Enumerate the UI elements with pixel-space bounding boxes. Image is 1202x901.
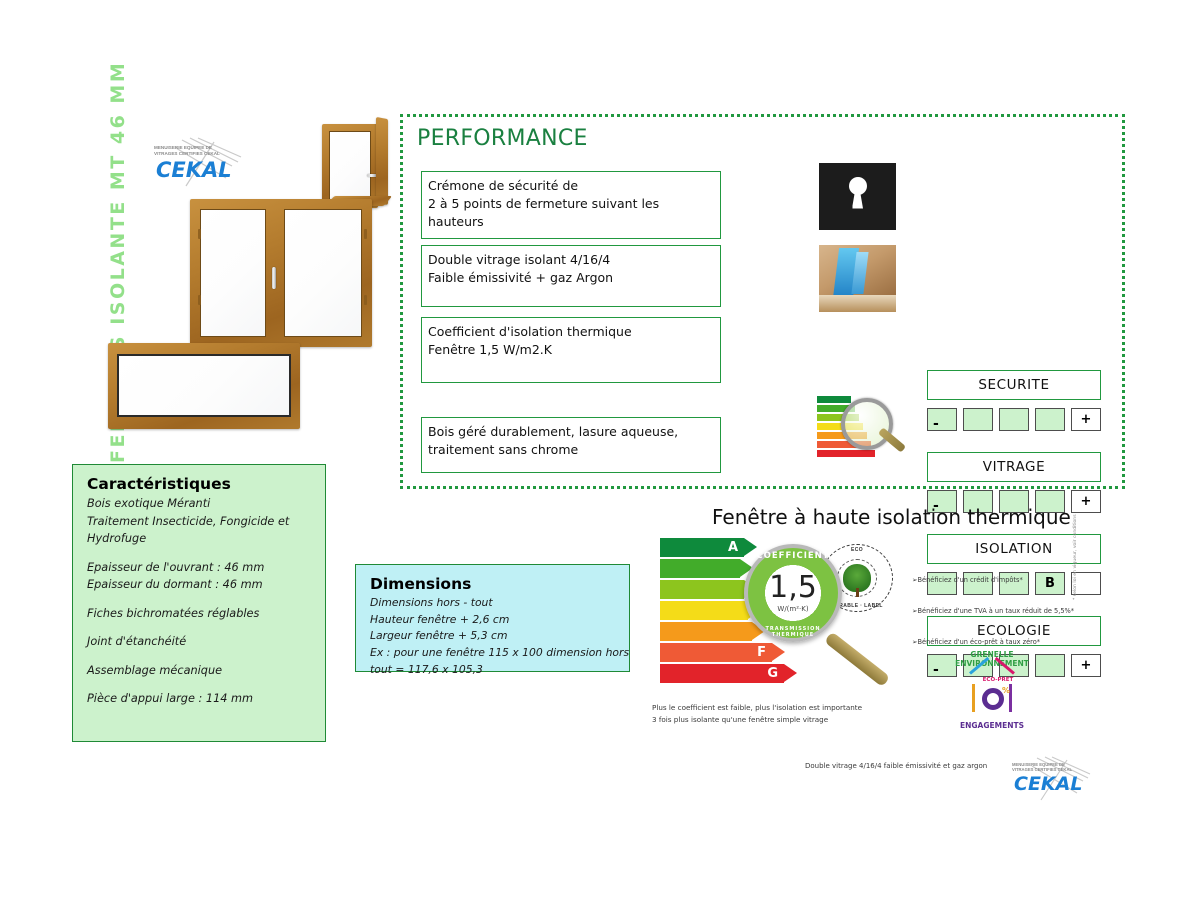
rating-box-grade[interactable]: B xyxy=(1035,572,1065,595)
energy-note: Plus le coefficient est faible, plus l'i… xyxy=(652,702,862,726)
energy-grade-letter-G: G xyxy=(767,666,784,681)
perf-box-securite: Crémone de sécurité de 2 à 5 points de f… xyxy=(421,171,721,239)
rating-box[interactable] xyxy=(999,408,1029,431)
energy-grade-bar-A: A xyxy=(660,538,744,557)
perf-box-securite-line1: Crémone de sécurité de xyxy=(428,177,720,195)
perf-box-securite-line2: 2 à 5 points de fermeture suivant les xyxy=(428,195,720,213)
perf-box-vitrage-line2: Faible émissivité + gaz Argon xyxy=(428,269,720,287)
rating-box-minus[interactable]: - xyxy=(927,408,957,431)
caracteristiques-line: Assemblage mécanique xyxy=(87,662,313,680)
cekal-wordmark: CEKAL xyxy=(156,158,232,182)
double-leaf-handle xyxy=(272,267,276,289)
perf-box-securite-line3: hauteurs xyxy=(428,213,720,231)
cekal-logo-bottom: MENUISERIE EQUIPEE DE VITRAGES CERTIFIES… xyxy=(1005,755,1091,803)
energy-magnifier-icon xyxy=(817,394,899,462)
transom-frame xyxy=(108,343,300,429)
dimensions-line: Hauteur fenêtre + 2,6 cm xyxy=(370,612,617,629)
caracteristiques-line: Joint d'étanchéité xyxy=(87,633,313,651)
perf-box-isolation: Coefficient d'isolation thermique Fenêtr… xyxy=(421,317,721,383)
caracteristiques-line: Epaisseur de l'ouvrant : 46 mm xyxy=(87,559,313,577)
perf-box-isolation-line2: Fenêtre 1,5 W/m2.K xyxy=(428,341,720,359)
rating-box[interactable] xyxy=(1035,408,1065,431)
double-leaf-hinge-bottom xyxy=(198,295,201,305)
performance-title: PERFORMANCE xyxy=(417,126,588,151)
rating-box[interactable] xyxy=(1035,654,1065,677)
rating-box-plus[interactable]: + xyxy=(1071,654,1101,677)
energy-grade-bar-D xyxy=(660,601,748,620)
cekal-cert-line-2: VITRAGES CERTIFIES CEKAL xyxy=(1012,768,1072,772)
side-legal-note: * selon loi en vigueur, voir conditions xyxy=(1073,514,1078,600)
transom-glass xyxy=(117,354,291,417)
promo-title: Fenêtre à haute isolation thermique xyxy=(712,505,1071,529)
rating-label-securite: SECURITE xyxy=(927,370,1101,400)
open-sash-glass xyxy=(329,131,371,201)
grenelle-house-icon: ECO-PRET % xyxy=(970,672,1014,712)
grenelle-top-text: GRENELLE ENVIRONNEMENT xyxy=(946,650,1038,668)
cekal-wordmark: CEKAL xyxy=(1014,773,1082,795)
perf-box-ecologie-line1: Bois géré durablement, lasure aqueuse, xyxy=(428,423,720,441)
perf-box-vitrage-line1: Double vitrage isolant 4/16/4 xyxy=(428,251,720,269)
rating-box-plus[interactable]: + xyxy=(1071,490,1101,513)
energy-grade-bar-B xyxy=(660,559,740,578)
grenelle-ecopret-text: ECO-PRET xyxy=(976,677,1020,683)
grenelle-environnement-logo: GRENELLE ENVIRONNEMENT ECO-PRET % ENGAGE… xyxy=(946,652,1038,732)
dimensions-line: Dimensions hors - tout xyxy=(370,595,617,612)
coefficient-ring-top-text: COEFFICIENT xyxy=(744,551,842,561)
double-leaf-hinge-top xyxy=(198,229,201,239)
energy-grade-bar-E xyxy=(660,622,752,641)
double-leaf-hinge-right-top xyxy=(364,229,367,239)
keyhole-icon xyxy=(819,163,896,230)
perf-box-isolation-line1: Coefficient d'isolation thermique xyxy=(428,323,720,341)
caracteristiques-line: Pièce d'appui large : 114 mm xyxy=(87,690,313,708)
perf-box-vitrage: Double vitrage isolant 4/16/4 Faible émi… xyxy=(421,245,721,307)
dimensions-line: Largeur fenêtre + 5,3 cm xyxy=(370,628,617,645)
rating-box-plus[interactable]: + xyxy=(1071,408,1101,431)
dimensions-card: Dimensions Dimensions hors - tout Hauteu… xyxy=(355,564,630,672)
caracteristiques-title: Caractéristiques xyxy=(87,475,313,493)
performance-panel: PERFORMANCE Crémone de sécurité de 2 à 5… xyxy=(400,114,1125,489)
promo-bullet-2: ➢Bénéficiez d'une TVA à un taux réduit d… xyxy=(912,607,1074,615)
rating-box[interactable] xyxy=(963,408,993,431)
double-leaf-frame xyxy=(190,199,372,347)
window-glazing-icon xyxy=(819,245,896,312)
caracteristiques-line: Bois exotique Méranti xyxy=(87,495,313,513)
dimensions-line: tout = 117,6 x 105,3 xyxy=(370,662,617,679)
promo-bullet-1: ➢Bénéficiez d'un crédit d'impôts* xyxy=(912,576,1023,584)
coefficient-value: 1,5 xyxy=(769,573,817,603)
perf-box-ecologie-line2: traitement sans chrome xyxy=(428,441,720,459)
double-leaf-hinge-right-bottom xyxy=(364,295,367,305)
energy-grade-letter-A: A xyxy=(728,540,744,555)
dimensions-title: Dimensions xyxy=(370,575,617,593)
coefficient-ring-bottom-text: TRANSMISSION THERMIQUE xyxy=(744,626,842,638)
grenelle-percent-text: % xyxy=(1002,686,1010,695)
cekal-cert-line-2: VITRAGES CERTIFIES CEKAL xyxy=(154,152,220,157)
energy-grade-bar-F: F xyxy=(660,643,772,662)
caracteristiques-line: Epaisseur du dormant : 46 mm xyxy=(87,576,313,594)
energy-note-line-2: 3 fois plus isolante qu'une fenêtre simp… xyxy=(652,714,862,726)
caracteristiques-line: Fiches bichromatées réglables xyxy=(87,605,313,623)
energy-label-chart: A F G 1,5 W/(m²·K) COEFFICIENT TRANSMI xyxy=(660,538,900,698)
coefficient-unit: W/(m²·K) xyxy=(777,605,808,613)
energy-note-line-1: Plus le coefficient est faible, plus l'i… xyxy=(652,702,862,714)
dimensions-line: Ex : pour une fenêtre 115 x 100 dimensio… xyxy=(370,645,617,662)
energy-grade-bar-C xyxy=(660,580,744,599)
rating-boxes-securite: - + xyxy=(927,408,1107,431)
caracteristiques-card: Caractéristiques Bois exotique Méranti T… xyxy=(72,464,326,742)
perf-box-ecologie: Bois géré durablement, lasure aqueuse, t… xyxy=(421,417,721,473)
product-sheet-page: FENETRES ISOLANTE MT 46 MM MENUISERIE EQ… xyxy=(0,0,1202,901)
caracteristiques-line: Hydrofuge xyxy=(87,530,313,548)
promo-bullet-3: ➢Bénéficiez d'un éco-prêt à taux zéro* xyxy=(912,638,1040,646)
grenelle-zero-icon xyxy=(982,688,1004,710)
magnifier-handle-icon xyxy=(824,631,890,687)
grenelle-bottom-text: ENGAGEMENTS xyxy=(946,721,1038,730)
rating-label-vitrage: VITRAGE xyxy=(927,452,1101,482)
double-leaf-glass-left xyxy=(200,209,266,337)
double-leaf-glass-right xyxy=(284,209,362,337)
caracteristiques-line: Traitement Insecticide, Fongicide et xyxy=(87,513,313,531)
energy-grade-letter-F: F xyxy=(757,645,772,660)
energy-grade-bar-G: G xyxy=(660,664,784,683)
open-sash-leaf xyxy=(376,117,388,205)
cekal-logo-top: MENUISERIE EQUIPEE DE VITRAGES CERTIFIES… xyxy=(146,136,242,190)
footer-note: Double vitrage 4/16/4 faible émissivité … xyxy=(805,762,987,770)
